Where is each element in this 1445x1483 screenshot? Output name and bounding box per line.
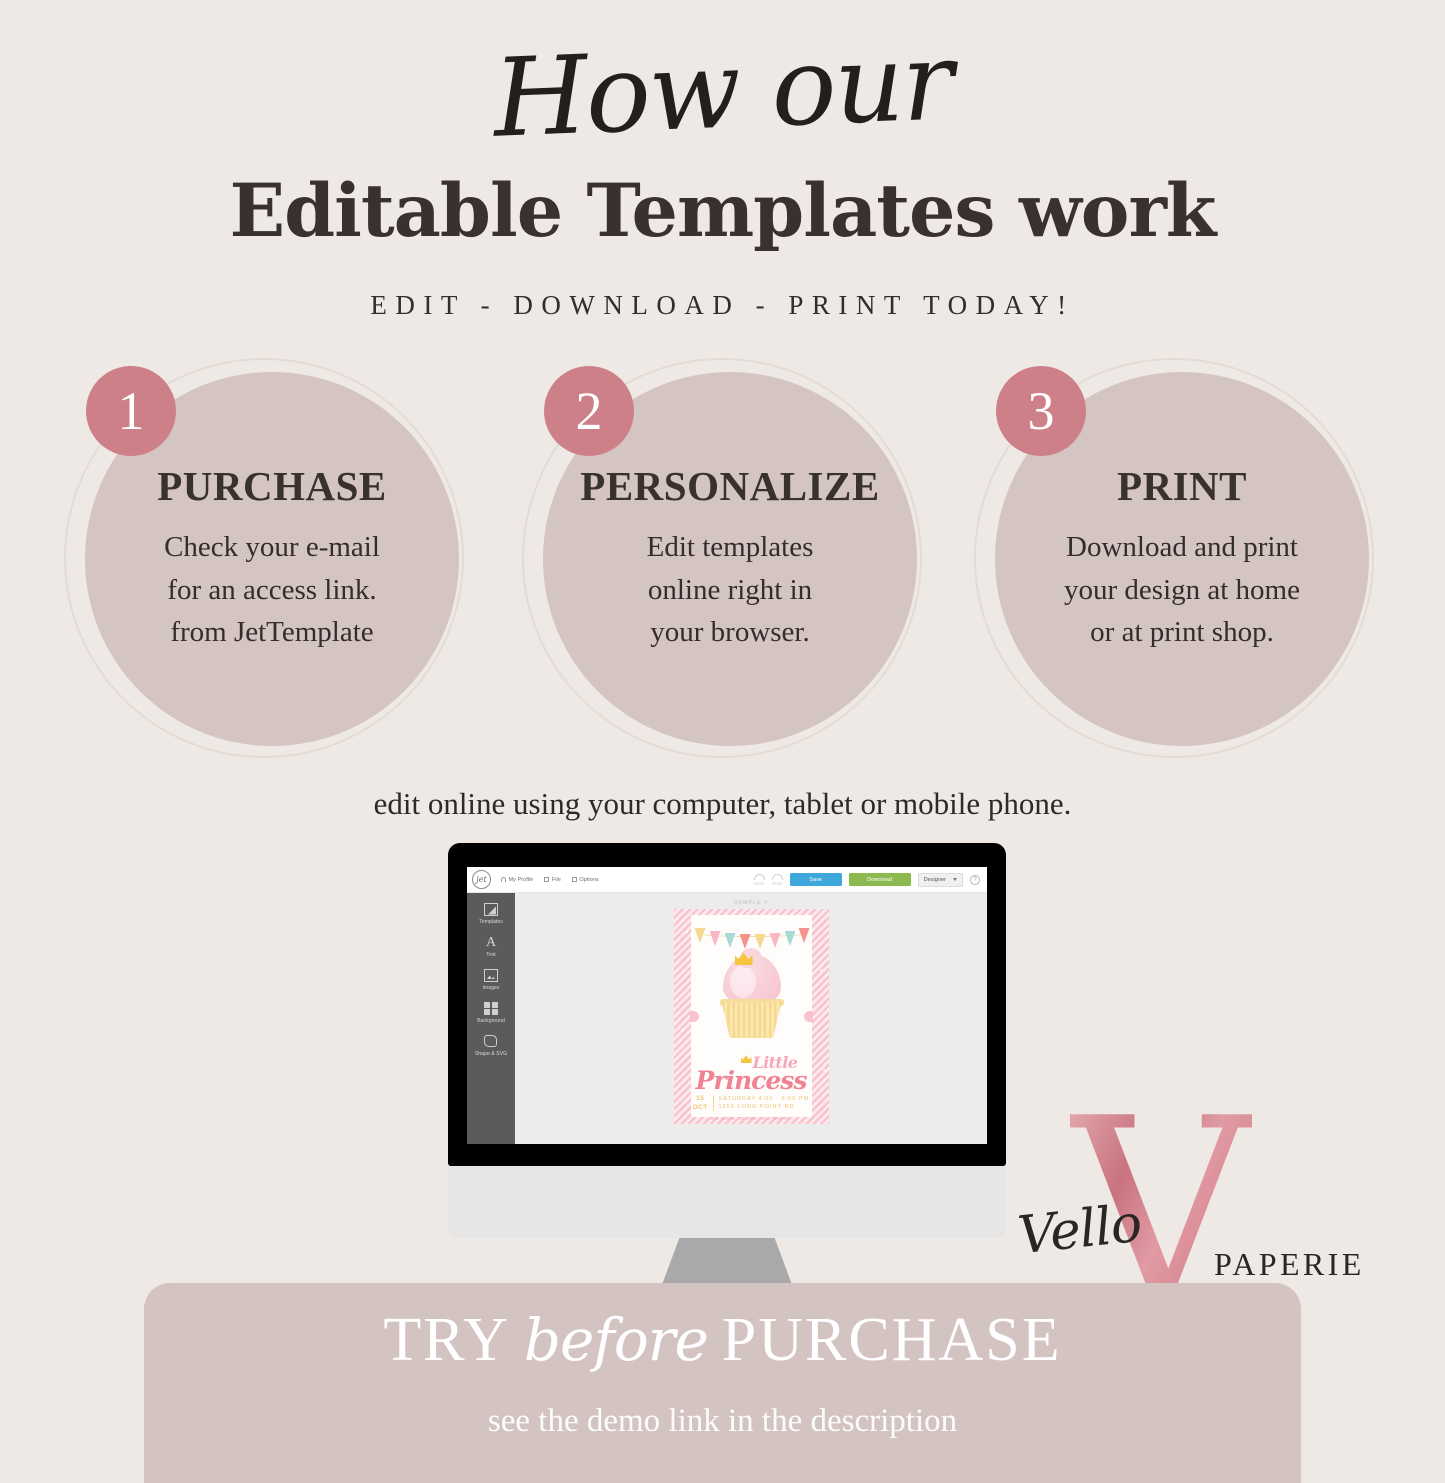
headline-script: How our bbox=[0, 6, 1445, 175]
card-when-where: SATURDAY 4:00 - 6:00 PM 1255 LONG POINT … bbox=[719, 1095, 810, 1112]
sliders-icon bbox=[572, 877, 577, 882]
step-title: PURCHASE bbox=[85, 462, 459, 510]
banner-word-before: before bbox=[524, 1306, 708, 1374]
step-line: for an access link. bbox=[85, 569, 459, 612]
monitor-chin bbox=[448, 1166, 1006, 1238]
step-line: or at print shop. bbox=[995, 611, 1369, 654]
redo-button[interactable]: Redo bbox=[772, 874, 783, 886]
step-number-badge: 3 bbox=[996, 366, 1086, 456]
bunting-flag bbox=[770, 933, 781, 948]
invitation-card[interactable]: Little Princess 15 OCT SATURDAY 4:00 - 6… bbox=[674, 909, 829, 1124]
editor-body: Templates A Text Images Background bbox=[467, 893, 987, 1144]
bottom-banner: TRY before PURCHASE see the demo link in… bbox=[144, 1283, 1301, 1483]
step-description: Download and print your design at home o… bbox=[995, 526, 1369, 654]
step-title: PRINT bbox=[995, 462, 1369, 510]
sidebar-label: Templates bbox=[479, 919, 503, 925]
card-time-line: SATURDAY 4:00 - 6:00 PM bbox=[719, 1095, 810, 1104]
sidebar-item-templates[interactable]: Templates bbox=[467, 898, 515, 931]
person-icon bbox=[501, 877, 506, 882]
logo-script-name: Vello bbox=[1015, 1194, 1144, 1267]
headline-main: Editable Templates work bbox=[0, 168, 1445, 254]
banner-headline: TRY before PURCHASE bbox=[144, 1305, 1301, 1376]
sidebar-item-shape-svg[interactable]: Shape & SVG bbox=[467, 1030, 515, 1063]
step-number-badge: 1 bbox=[86, 366, 176, 456]
menu-item-file[interactable]: File bbox=[544, 877, 561, 883]
menu-label: Options bbox=[579, 877, 598, 883]
step-card-purchase: 1 PURCHASE Check your e-mail for an acce… bbox=[64, 358, 464, 758]
step-card-print: 3 PRINT Download and print your design a… bbox=[974, 358, 1374, 758]
file-icon bbox=[544, 877, 549, 882]
bunting-flag bbox=[755, 934, 766, 949]
templates-icon bbox=[484, 903, 498, 916]
menu-label: My Profile bbox=[509, 877, 534, 883]
editor-screen: jet My Profile File Options bbox=[467, 867, 987, 1144]
headline-subtitle: EDIT - DOWNLOAD - PRINT TODAY! bbox=[0, 290, 1445, 321]
cupcake-illustration bbox=[718, 954, 786, 1039]
bunting-flag bbox=[740, 934, 751, 949]
card-address-line: 1255 LONG POINT RD bbox=[719, 1103, 810, 1112]
card-event-details: 15 OCT SATURDAY 4:00 - 6:00 PM 1255 LONG… bbox=[691, 1094, 812, 1113]
tagline: edit online using your computer, tablet … bbox=[0, 786, 1445, 822]
step-body: PRINT Download and print your design at … bbox=[995, 462, 1369, 654]
sidebar-label: Shape & SVG bbox=[475, 1051, 507, 1057]
menu-item-my-profile[interactable]: My Profile bbox=[501, 877, 533, 883]
save-button[interactable]: Save bbox=[790, 873, 842, 886]
sidebar-item-text[interactable]: A Text bbox=[467, 931, 515, 964]
step-description: Check your e-mail for an access link. fr… bbox=[85, 526, 459, 654]
bunting-flag bbox=[725, 933, 736, 948]
bunting-decoration bbox=[693, 926, 810, 946]
step-line: online right in bbox=[543, 569, 917, 612]
step-card-personalize: 2 PERSONALIZE Edit templates online righ… bbox=[522, 358, 922, 758]
sidebar-item-background[interactable]: Background bbox=[467, 997, 515, 1030]
shape-svg-icon bbox=[484, 1035, 498, 1048]
divider bbox=[713, 1096, 714, 1111]
brand-logo: V Vello PAPERIE bbox=[1018, 1092, 1368, 1292]
step-line: your design at home bbox=[995, 569, 1369, 612]
editor-toolbar-right: Undo Redo Save Download Designer ? bbox=[754, 873, 980, 887]
sidebar-label: Text bbox=[486, 952, 496, 958]
card-date-month: OCT bbox=[693, 1103, 708, 1112]
undo-label: Undo bbox=[754, 881, 765, 886]
step-description: Edit templates online right in your brow… bbox=[543, 526, 917, 654]
card-date-day: 15 bbox=[693, 1094, 708, 1103]
cupcake-frosting-highlight bbox=[730, 966, 756, 998]
sidebar-label: Background bbox=[477, 1018, 505, 1024]
cupcake-wrapper bbox=[722, 1002, 782, 1038]
redo-arrow-icon bbox=[772, 874, 783, 880]
card-inner-panel: Little Princess 15 OCT SATURDAY 4:00 - 6… bbox=[691, 916, 812, 1117]
step-title: PERSONALIZE bbox=[543, 462, 917, 510]
steps-row: 1 PURCHASE Check your e-mail for an acce… bbox=[0, 358, 1445, 763]
card-title-main: Princess bbox=[691, 1066, 812, 1095]
bunting-flag bbox=[695, 928, 706, 943]
undo-arrow-icon bbox=[754, 874, 765, 880]
step-body: PERSONALIZE Edit templates online right … bbox=[543, 462, 917, 654]
help-icon[interactable]: ? bbox=[970, 875, 980, 885]
editor-canvas[interactable]: SAMPLE # bbox=[515, 893, 987, 1144]
bunting-flag bbox=[799, 928, 810, 943]
menu-item-options[interactable]: Options bbox=[572, 877, 599, 883]
jet-logo-icon: jet bbox=[472, 870, 491, 889]
monitor-mockup: jet My Profile File Options bbox=[448, 843, 1006, 1305]
text-icon: A bbox=[484, 936, 498, 949]
undo-button[interactable]: Undo bbox=[754, 874, 765, 886]
banner-word-try: TRY bbox=[383, 1306, 510, 1374]
menu-label: File bbox=[552, 877, 561, 883]
card-date: 15 OCT bbox=[693, 1094, 708, 1113]
role-select[interactable]: Designer bbox=[918, 873, 963, 887]
background-grid-icon bbox=[484, 1002, 498, 1015]
editor-menu: My Profile File Options bbox=[501, 877, 599, 883]
sidebar-label: Images bbox=[482, 985, 499, 991]
step-line: from JetTemplate bbox=[85, 611, 459, 654]
step-line: your browser. bbox=[543, 611, 917, 654]
banner-word-purchase: PURCHASE bbox=[722, 1306, 1062, 1374]
monitor-bezel: jet My Profile File Options bbox=[448, 843, 1006, 1166]
editor-sidebar: Templates A Text Images Background bbox=[467, 893, 515, 1144]
bunting-flag bbox=[785, 931, 796, 946]
step-number-badge: 2 bbox=[544, 366, 634, 456]
canvas-sample-label: SAMPLE # bbox=[515, 893, 987, 909]
card-footer-note: WE HOPE TO SEE YOU THERE! bbox=[691, 1116, 812, 1121]
editor-toolbar: jet My Profile File Options bbox=[467, 867, 987, 893]
step-line: Download and print bbox=[995, 526, 1369, 569]
step-body: PURCHASE Check your e-mail for an access… bbox=[85, 462, 459, 654]
chevron-down-icon bbox=[953, 878, 957, 881]
crown-icon-small bbox=[741, 1055, 752, 1063]
step-line: Check your e-mail bbox=[85, 526, 459, 569]
images-icon bbox=[484, 969, 498, 982]
download-button[interactable]: Download bbox=[849, 873, 911, 886]
bunting-flag bbox=[710, 931, 721, 946]
role-label: Designer bbox=[924, 877, 946, 883]
redo-label: Redo bbox=[772, 881, 783, 886]
logo-wordmark: PAPERIE bbox=[1214, 1246, 1365, 1283]
sidebar-item-images[interactable]: Images bbox=[467, 964, 515, 997]
banner-subtitle: see the demo link in the description bbox=[144, 1403, 1301, 1440]
step-line: Edit templates bbox=[543, 526, 917, 569]
